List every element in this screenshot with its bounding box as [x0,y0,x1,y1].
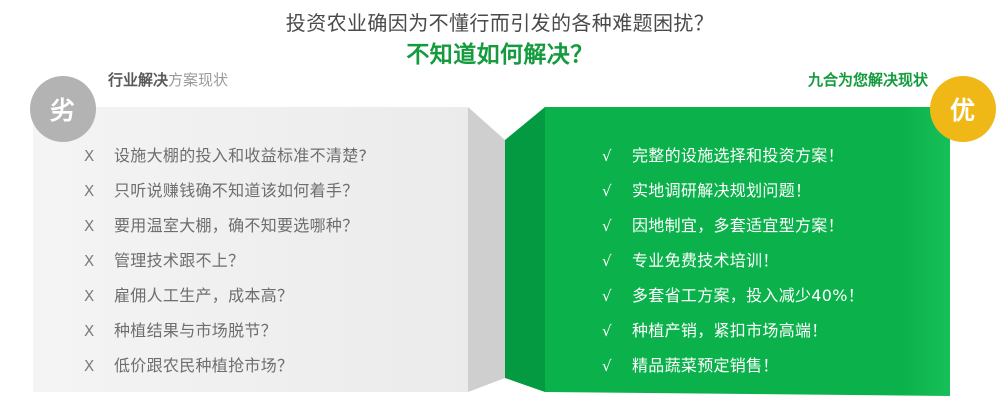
comparison-banner: 投资农业确因为不懂行而引发的各种难题困扰？ 不知道如何解决？ 行业解决方案现状 [0,0,1000,416]
bad-badge: 劣 [30,76,96,142]
check-icon: √ [602,182,632,200]
problem-item: X雇佣人工生产，成本高？ [84,282,367,317]
solution-item-label: 种植产销，紧扣市场高端！ [632,317,828,341]
solution-item: √实地调研解决规划问题！ [602,177,864,212]
check-icon: √ [602,322,632,340]
cross-icon: X [84,322,114,340]
solution-item-label: 多套省工方案，投入减少40%！ [632,282,864,306]
left-heading-strong: 行业解决 [108,71,168,89]
problem-item-label: 种植结果与市场脱节？ [114,317,277,341]
left-panel-fold [468,107,505,392]
left-heading-soft: 方案现状 [168,71,228,89]
solution-item-label: 专业免费技术培训！ [632,247,779,271]
solution-item: √多套省工方案，投入减少40%！ [602,282,864,317]
solution-item: √精品蔬菜预定销售！ [602,352,864,387]
solution-item: √因地制宜，多套适宜型方案！ [602,212,864,247]
check-icon: √ [602,217,632,235]
cross-icon: X [84,252,114,270]
problem-item-label: 低价跟农民种植抢市场？ [114,352,293,376]
problem-item: X要用温室大棚，确不知要选哪种？ [84,212,367,247]
problem-item-label: 设施大棚的投入和收益标准不清楚? [114,142,367,166]
cross-icon: X [84,287,114,305]
cross-icon: X [84,357,114,375]
solution-item-label: 因地制宜，多套适宜型方案！ [632,212,844,236]
check-icon: √ [602,252,632,270]
check-icon: √ [602,357,632,375]
check-icon: √ [602,287,632,305]
solution-item-label: 精品蔬菜预定销售！ [632,352,779,376]
problem-item-label: 要用温室大棚，确不知要选哪种？ [114,212,359,236]
problem-item: X管理技术跟不上？ [84,247,367,282]
problem-item: X设施大棚的投入和收益标准不清楚? [84,142,367,177]
solution-item: √完整的设施选择和投资方案！ [602,142,864,177]
problem-item: X只听说赚钱确不知道该如何着手？ [84,177,367,212]
solution-list: √完整的设施选择和投资方案！√实地调研解决规划问题！√因地制宜，多套适宜型方案！… [602,142,864,387]
problem-item-label: 管理技术跟不上？ [114,247,244,271]
cross-icon: X [84,182,114,200]
cross-icon: X [84,217,114,235]
solution-item-label: 实地调研解决规划问题！ [632,177,811,201]
solution-item: √种植产销，紧扣市场高端！ [602,317,864,352]
right-panel-fold [505,107,545,392]
solution-item-label: 完整的设施选择和投资方案！ [632,142,844,166]
left-panel-heading: 行业解决方案现状 [108,70,228,90]
cross-icon: X [84,147,114,165]
problem-list: X设施大棚的投入和收益标准不清楚?X只听说赚钱确不知道该如何着手？X要用温室大棚… [84,142,367,387]
right-panel-heading: 九合为您解决现状 [808,70,928,90]
check-icon: √ [602,147,632,165]
solution-item: √专业免费技术培训！ [602,247,864,282]
problem-item-label: 只听说赚钱确不知道该如何着手？ [114,177,359,201]
good-badge: 优 [930,76,996,142]
problem-item: X低价跟农民种植抢市场？ [84,352,367,387]
problem-item: X种植结果与市场脱节？ [84,317,367,352]
problem-item-label: 雇佣人工生产，成本高？ [114,282,293,306]
